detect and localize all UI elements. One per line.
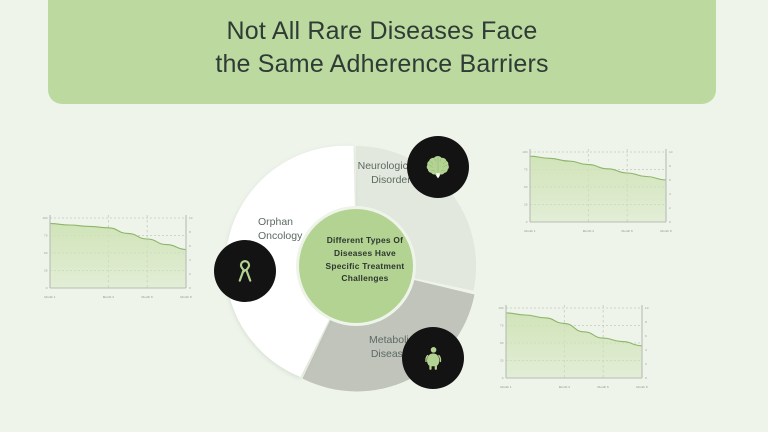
y2-tick-label: 6 — [645, 334, 647, 338]
area-chart-svg-0: 02550751000246810Month 1Month 4Month 6Mo… — [28, 208, 208, 308]
y2-tick-label: 8 — [189, 230, 191, 234]
badge-orphan-oncology[interactable] — [214, 240, 276, 302]
body-icon — [418, 343, 448, 373]
mini-chart-top-right: 02550751000246810Month 1Month 4Month 6Mo… — [508, 142, 688, 242]
x-tick-label: Month 8 — [660, 229, 671, 233]
y-tick-label: 25 — [44, 269, 48, 273]
y2-tick-label: 4 — [669, 192, 671, 196]
page-title: Not All Rare Diseases Face the Same Adhe… — [215, 15, 548, 81]
y-tick-label: 75 — [44, 234, 48, 238]
y-tick-label: 75 — [500, 324, 504, 328]
x-tick-label: Month 1 — [524, 229, 535, 233]
y2-tick-label: 2 — [669, 206, 671, 210]
x-tick-label: Month 8 — [180, 295, 191, 299]
y-tick-label: 100 — [498, 306, 503, 310]
mini-chart-bottom-right: 02550751000246810Month 1Month 4Month 6Mo… — [484, 298, 664, 398]
x-tick-label: Month 8 — [636, 385, 647, 389]
y2-tick-label: 0 — [669, 220, 671, 224]
y-tick-label: 75 — [524, 168, 528, 172]
chart-area-fill — [530, 156, 666, 222]
y2-tick-label: 0 — [645, 376, 647, 380]
y2-tick-label: 10 — [189, 216, 193, 220]
chart-area-fill — [506, 313, 642, 378]
chart-area-fill — [50, 224, 186, 288]
x-tick-label: Month 4 — [103, 295, 114, 299]
ribbon-icon — [230, 256, 260, 286]
area-chart-svg-2: 02550751000246810Month 1Month 4Month 6Mo… — [484, 298, 664, 398]
x-tick-label: Month 1 — [44, 295, 55, 299]
y2-tick-label: 4 — [645, 348, 647, 352]
y-tick-label: 100 — [42, 216, 47, 220]
y-tick-label: 0 — [526, 220, 528, 224]
y-tick-label: 0 — [502, 376, 504, 380]
y-tick-label: 25 — [524, 203, 528, 207]
x-tick-label: Month 4 — [583, 229, 594, 233]
x-tick-label: Month 4 — [559, 385, 570, 389]
area-chart-svg-1: 02550751000246810Month 1Month 4Month 6Mo… — [508, 142, 688, 242]
donut-label-neurological: Neurological Disorders — [332, 160, 416, 188]
header-banner: Not All Rare Diseases Face the Same Adhe… — [48, 0, 716, 104]
x-tick-label: Month 6 — [142, 295, 153, 299]
x-tick-label: Month 6 — [622, 229, 633, 233]
y-tick-label: 50 — [44, 251, 48, 255]
x-tick-label: Month 1 — [500, 385, 511, 389]
y-tick-label: 50 — [500, 341, 504, 345]
y2-tick-label: 10 — [669, 150, 673, 154]
y-tick-label: 25 — [500, 359, 504, 363]
mini-chart-left: 02550751000246810Month 1Month 4Month 6Mo… — [28, 208, 208, 308]
x-tick-label: Month 6 — [598, 385, 609, 389]
y-tick-label: 0 — [46, 286, 48, 290]
y2-tick-label: 0 — [189, 286, 191, 290]
donut-center-text: Different Types Of Diseases Have Specifi… — [314, 234, 416, 285]
y2-tick-label: 6 — [189, 244, 191, 248]
y2-tick-label: 10 — [645, 306, 649, 310]
y2-tick-label: 8 — [669, 164, 671, 168]
badge-metabolic[interactable] — [402, 327, 464, 389]
badge-neurological[interactable] — [407, 136, 469, 198]
brain-icon — [423, 152, 453, 182]
y2-tick-label: 2 — [645, 362, 647, 366]
y2-tick-label: 6 — [669, 178, 671, 182]
y-tick-label: 50 — [524, 185, 528, 189]
y-tick-label: 100 — [522, 150, 527, 154]
y2-tick-label: 2 — [189, 272, 191, 276]
y2-tick-label: 8 — [645, 320, 647, 324]
y2-tick-label: 4 — [189, 258, 191, 262]
